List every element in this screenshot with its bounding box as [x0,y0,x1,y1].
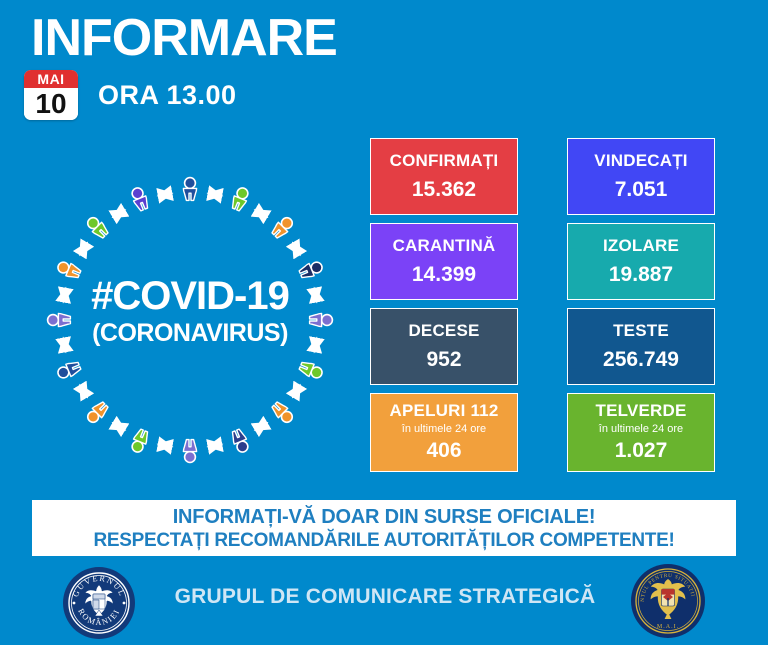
stat-apeluri-112: APELURI 112în ultimele 24 ore406 [370,393,518,472]
stat-apeluri-112-sublabel: în ultimele 24 ore [402,422,486,436]
calendar-month-label: MAI [24,70,78,88]
stat-telverde-label: TELVERDE [595,400,686,422]
person-icon [230,428,251,454]
stat-apeluri-112-label: APELURI 112 [390,400,499,422]
mai-dsu-emblem: DEPARTAMENTUL PENTRU SITUATII DE URGENTA… [630,562,706,640]
person-icon [298,360,324,381]
page-title: INFORMARE [31,8,337,68]
person-icon [270,400,295,425]
double-arrow-icon [118,213,119,214]
header: INFORMARE MAI 10 ORA 13.00 [0,0,768,130]
stat-decese: DECESE952 [370,308,518,385]
stat-teste: TESTE256.749 [567,308,715,385]
stat-teste-value: 256.749 [603,346,679,374]
footer-organization-label: GRUPUL DE COMUNICARE STRATEGICĂ [160,585,610,609]
person-icon [183,178,196,201]
person-icon [56,259,82,280]
banner-line-2: RESPECTAȚI RECOMANDĂRILE AUTORITĂȚILOR C… [93,529,674,552]
statistics-grid: CONFIRMAȚI15.362VINDECAȚI7.051CARANTINĂ1… [370,138,715,486]
double-arrow-icon [296,391,297,392]
calendar-icon: MAI 10 [24,70,78,120]
stat-vindecati-label: VINDECAȚI [594,150,687,172]
person-icon [56,360,82,381]
person-icon [310,313,333,326]
person-icon [183,440,196,463]
stat-telverde-value: 1.027 [615,437,668,465]
stat-izolare-value: 19.887 [609,261,673,289]
banner-line-1: INFORMAȚI-VĂ DOAR DIN SURSE OFICIALE! [173,505,596,529]
stat-vindecati: VINDECAȚI7.051 [567,138,715,215]
stat-izolare: IZOLARE19.887 [567,223,715,300]
double-arrow-icon [118,426,119,427]
stat-decese-value: 952 [426,346,461,374]
person-icon [270,215,295,240]
stat-carantina-label: CARANTINĂ [393,235,496,257]
date-row: MAI 10 ORA 13.00 [24,70,237,120]
person-icon [85,215,110,240]
person-icon [85,400,110,425]
stat-teste-label: TESTE [613,320,669,342]
person-icon [298,259,324,280]
stat-confirmati-value: 15.362 [412,176,476,204]
stat-confirmati-label: CONFIRMAȚI [390,150,499,172]
stat-confirmati: CONFIRMAȚI15.362 [370,138,518,215]
double-arrow-icon [261,213,262,214]
person-icon [230,186,251,212]
official-sources-banner: INFORMAȚI-VĂ DOAR DIN SURSE OFICIALE! RE… [32,500,736,556]
stat-izolare-label: IZOLARE [603,235,679,257]
stat-vindecati-value: 7.051 [615,176,668,204]
hour-label: ORA 13.00 [98,80,237,111]
stat-telverde-sublabel: în ultimele 24 ore [599,422,683,436]
stat-decese-label: DECESE [408,320,479,342]
calendar-day-label: 10 [24,88,78,120]
stat-apeluri-112-value: 406 [426,437,461,465]
person-icon [129,186,150,212]
double-arrow-icon [83,391,84,392]
person-icon [48,313,71,326]
double-arrow-icon [261,426,262,427]
double-arrow-icon [83,248,84,249]
double-arrow-icon [296,248,297,249]
person-icon [129,428,150,454]
guvernul-romaniei-seal: GUVERNUL ROMÂNIEI [62,566,136,640]
stat-carantina-value: 14.399 [412,261,476,289]
stat-carantina: CARANTINĂ14.399 [370,223,518,300]
stat-telverde: TELVERDEîn ultimele 24 ore1.027 [567,393,715,472]
covid-people-circle-graphic: #COVID-19 (CORONAVIRUS) [20,150,360,490]
svg-text:M.A.I.: M.A.I. [657,624,679,630]
